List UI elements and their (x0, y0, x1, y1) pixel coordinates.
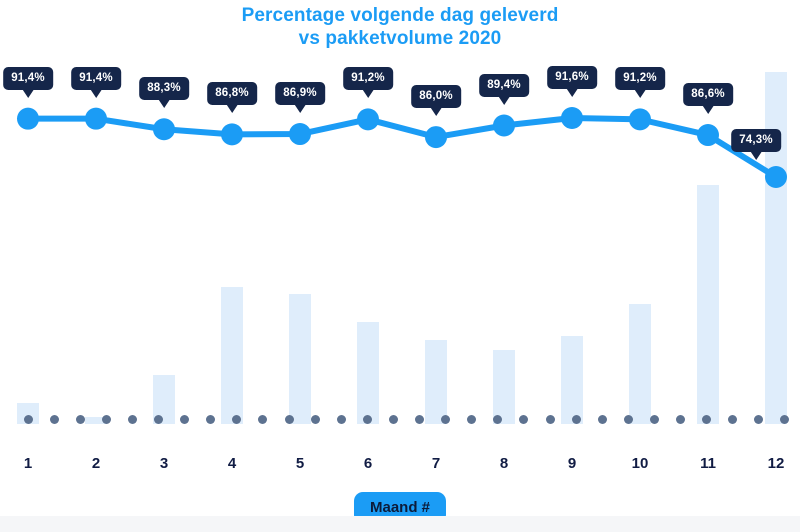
data-label-month-11: 86,6% (683, 83, 733, 106)
data-label-month-12: 74,3% (731, 129, 781, 152)
x-tick-3: 3 (160, 455, 168, 472)
data-label-month-10: 91,2% (615, 67, 665, 90)
data-label-month-4: 86,8% (207, 82, 257, 105)
x-tick-1: 1 (24, 455, 32, 472)
data-label-group: 91,4%91,4%88,3%86,8%86,9%91,2%86,0%89,4%… (0, 0, 800, 450)
x-tick-9: 9 (568, 455, 576, 472)
data-label-month-8: 89,4% (479, 74, 529, 97)
x-tick-6: 6 (364, 455, 372, 472)
plot-area: 91,4%91,4%88,3%86,8%86,9%91,2%86,0%89,4%… (0, 0, 800, 450)
data-label-month-5: 86,9% (275, 82, 325, 105)
data-label-month-3: 88,3% (139, 77, 189, 100)
bottom-strip (0, 516, 800, 532)
x-tick-2: 2 (92, 455, 100, 472)
data-label-month-6: 91,2% (343, 67, 393, 90)
x-tick-4: 4 (228, 455, 236, 472)
x-tick-11: 11 (700, 455, 716, 472)
data-label-month-7: 86,0% (411, 85, 461, 108)
x-tick-7: 7 (432, 455, 440, 472)
x-tick-8: 8 (500, 455, 508, 472)
x-tick-10: 10 (632, 455, 649, 472)
chart-container: Percentage volgende dag geleverd vs pakk… (0, 0, 800, 532)
data-label-month-1: 91,4% (3, 67, 53, 90)
data-label-month-2: 91,4% (71, 67, 121, 90)
data-label-month-9: 91,6% (547, 66, 597, 89)
x-tick-5: 5 (296, 455, 304, 472)
x-tick-12: 12 (768, 455, 785, 472)
